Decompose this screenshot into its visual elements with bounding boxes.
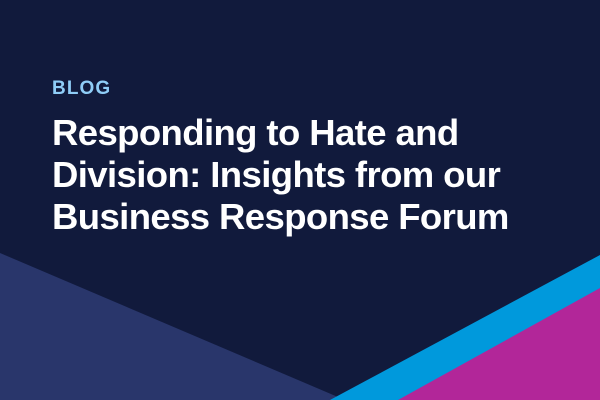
decorative-shapes: [0, 0, 600, 400]
blog-hero-card: BLOG Responding to Hate and Division: In…: [0, 0, 600, 400]
